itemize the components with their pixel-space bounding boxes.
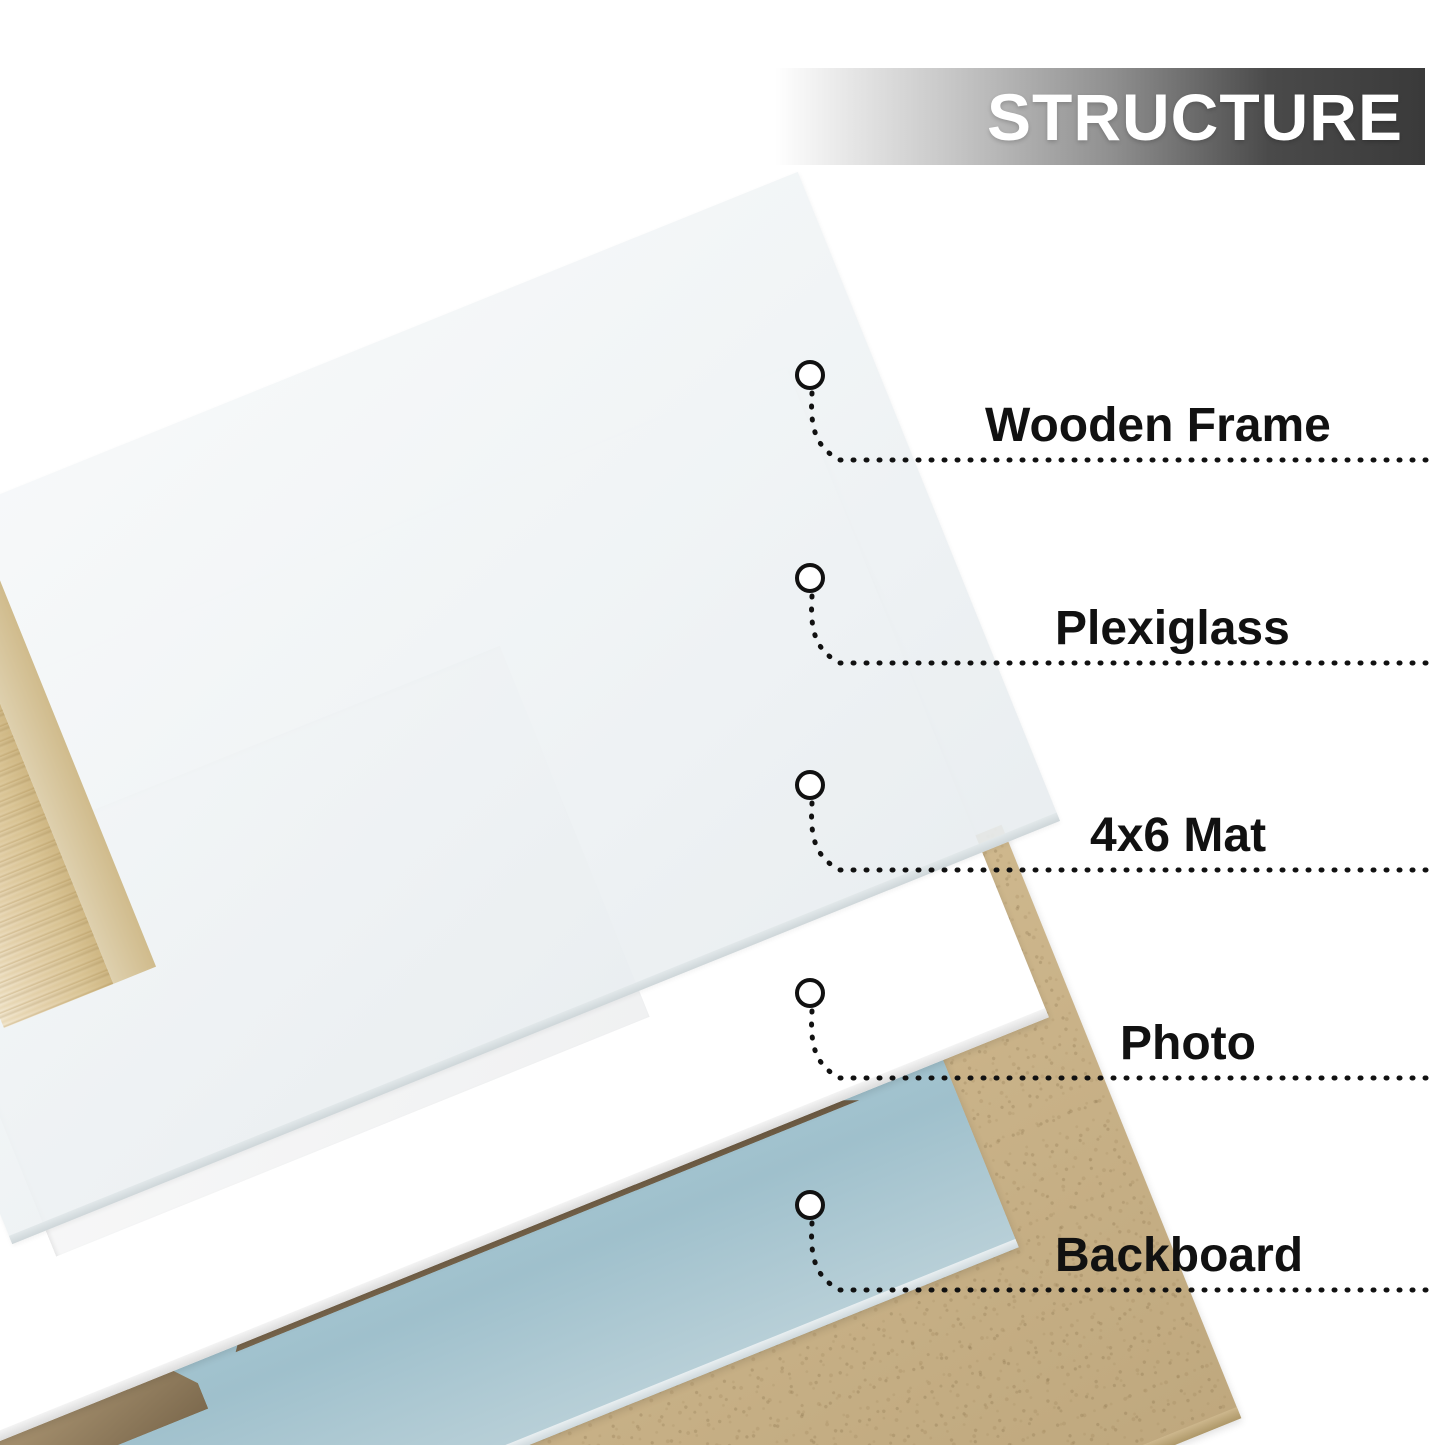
structure-infographic: STRUCTURE Wooden Frame Plexiglass 4x6 Ma… (0, 0, 1445, 1445)
label-wooden-frame: Wooden Frame (985, 402, 1331, 450)
label-photo: Photo (1120, 1020, 1256, 1068)
structure-banner: STRUCTURE (775, 68, 1425, 165)
label-mat: 4x6 Mat (1090, 812, 1266, 860)
label-backboard: Backboard (1055, 1232, 1303, 1280)
label-plexiglass: Plexiglass (1055, 605, 1290, 653)
frame-rail-top (0, 0, 700, 43)
frame-rail-top-edge (0, 0, 720, 92)
banner-title: STRUCTURE (987, 84, 1403, 150)
leader-line-photo (770, 1003, 1445, 1103)
